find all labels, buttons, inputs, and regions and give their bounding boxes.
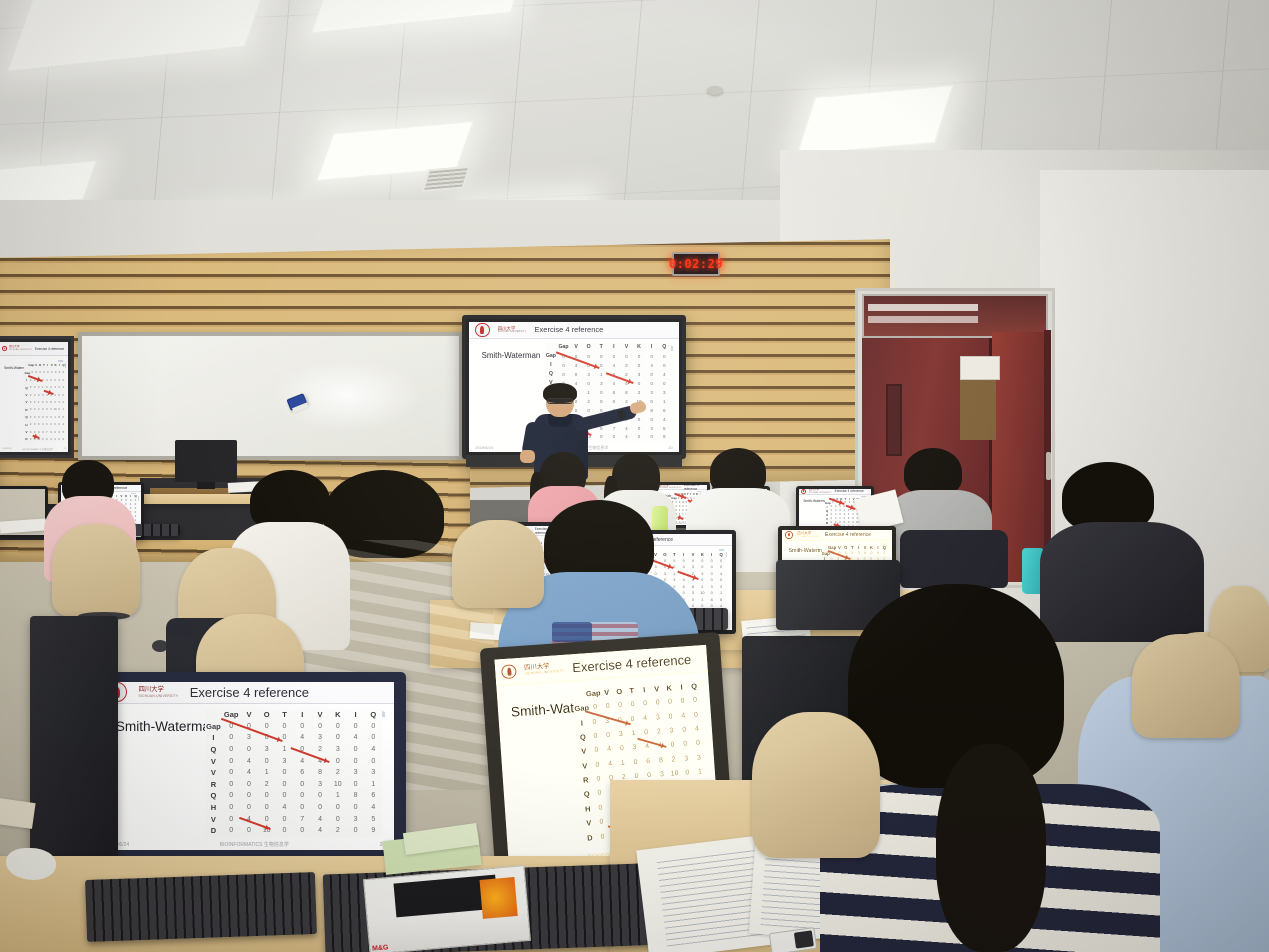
matrix-row: Q003102304 <box>24 386 65 390</box>
matrix-cell: 0 <box>592 775 605 783</box>
matrix-col-header: V <box>570 344 583 350</box>
matrix-row: V040074035 <box>24 430 65 434</box>
matrix-cell: 4 <box>61 386 65 389</box>
matrix-cell: 0 <box>626 701 639 709</box>
matrix-col-header: K <box>633 344 646 350</box>
matrix-cell: 1 <box>658 399 671 404</box>
door-vision-panel <box>886 384 902 456</box>
matrix-cell: 3 <box>692 754 705 762</box>
matrix-col-header: Q <box>364 710 382 719</box>
desktop-keyboard[interactable] <box>85 872 317 942</box>
corridor-light-patch <box>960 356 1000 380</box>
matrix-row-header: V <box>577 747 590 757</box>
monitor-back <box>30 616 118 868</box>
matrix-cell: 6 <box>642 757 655 765</box>
matrix-col-header: I <box>645 344 658 350</box>
slide-title: Exercise 4 reference <box>35 347 64 351</box>
matrix-col-header: V <box>600 687 613 697</box>
matrix-cell: 0 <box>679 741 692 749</box>
university-logo-icon <box>2 346 7 351</box>
matrix-row-header: H <box>205 803 223 812</box>
matrix-col-header: Q <box>881 545 887 550</box>
matrix-cell: 0 <box>615 745 628 753</box>
matrix-cell: 4 <box>639 715 652 723</box>
matrix-header-row: GapVOTIVKIQ <box>822 545 888 550</box>
matrix-cell: 0 <box>570 372 583 377</box>
matrix-cell: 0 <box>608 354 621 359</box>
matrix-cell: 0 <box>716 565 725 569</box>
matrix-cell: 0 <box>222 769 240 776</box>
matrix-cell: 4 <box>641 743 654 751</box>
matrix-cell: 4 <box>690 725 703 733</box>
matrix-cell: 1 <box>364 781 382 788</box>
matrix-cell: 0 <box>240 792 258 799</box>
matrix-col-header: V <box>311 710 329 719</box>
matrix-cell: 3 <box>633 372 646 377</box>
matrix-row: I030043040 <box>24 378 65 382</box>
matrix-cell: 0 <box>676 698 689 706</box>
matrix-cell: 0 <box>258 758 276 765</box>
matrix-cell: 0 <box>678 726 691 734</box>
matrix-cell: 4 <box>608 363 621 368</box>
matrix-cell: 0 <box>311 792 329 799</box>
matrix-cell: 0 <box>276 827 294 834</box>
matrix-cell: 0 <box>596 833 609 841</box>
matrix-cell: 10 <box>668 770 681 778</box>
matrix-cell: 1 <box>698 598 707 602</box>
slide-footer: 2019/6/24BIOINFORMATICS 生物信息学20 <box>2 447 66 451</box>
matrix-cell: 3 <box>665 727 678 735</box>
matrix-cell: 0 <box>329 804 347 811</box>
matrix-cell: 9 <box>61 438 65 441</box>
matrix-col-header: K <box>698 552 707 557</box>
matrix-col-header: T <box>595 344 608 350</box>
student-chair <box>752 712 880 858</box>
matrix-cell: 0 <box>240 746 258 753</box>
matrix-cell: 0 <box>614 702 627 710</box>
matrix-col-header: V <box>240 710 258 719</box>
matrix-cell: 0 <box>664 713 677 721</box>
slide-title: Exercise 4 reference <box>835 489 864 493</box>
matrix-cell: 4 <box>293 758 311 765</box>
matrix-cell: 2 <box>652 728 665 736</box>
matrix-header-row: GapVOTIVKIQ <box>205 710 383 719</box>
matrix-cell: 0 <box>293 781 311 788</box>
matrix-row-header: I <box>545 362 558 368</box>
whiteboard-glare <box>271 358 421 432</box>
matrix-col-header: I <box>347 710 365 719</box>
matrix-row-header: R <box>579 775 592 785</box>
matrix-cell: 4 <box>658 372 671 377</box>
university-name-en: SICHUAN UNIVERSITY <box>138 694 178 698</box>
matrix-cell: 4 <box>603 746 616 754</box>
slide-footer-date: 2019/6/24 <box>475 445 493 450</box>
matrix-cell: 0 <box>639 700 652 708</box>
monitor-screen: 四川大学SICHUAN UNIVERSITYExercise 4 referen… <box>98 682 394 850</box>
matrix-row-header: Gap <box>205 722 223 731</box>
corridor-board <box>960 380 996 440</box>
university-logo-icon <box>785 531 792 538</box>
matrix-cell: 0 <box>595 354 608 359</box>
slide-title: Exercise 4 reference <box>190 685 309 700</box>
matrix-cell: 0 <box>276 769 294 776</box>
matrix-col-header: Gap <box>557 344 570 350</box>
matrix-cell: 4 <box>364 746 382 753</box>
matrix-cell: 3 <box>595 381 608 386</box>
matrix-cell: 0 <box>240 804 258 811</box>
matrix-cell: 3 <box>658 390 671 395</box>
matrix-cell: 0 <box>222 746 240 753</box>
matrix-row: Q000000186 <box>24 415 65 419</box>
matrix-cell: 3 <box>276 758 294 765</box>
university-name-en: SICHUAN UNIVERSITY <box>797 536 821 538</box>
matrix-cell: 3 <box>655 771 668 779</box>
matrix-cell: 0 <box>557 372 570 377</box>
matrix-cell: 3 <box>645 390 658 395</box>
matrix-cell: 3 <box>614 731 627 739</box>
matrix-row: R0020031001 <box>24 408 65 412</box>
matrix-row-header: V <box>578 761 591 771</box>
student-ponytail <box>936 744 1046 952</box>
matrix-col-header: O <box>582 344 595 350</box>
matrix-cell: 0 <box>276 816 294 823</box>
matrix-cell: 0 <box>594 804 607 812</box>
countdown-timer-display: 0:02:29 <box>672 252 720 276</box>
matrix-col-header: I <box>608 344 621 350</box>
matrix-cell: 0 <box>633 354 646 359</box>
black-jacket <box>900 530 1008 588</box>
matrix-row: V040344000 <box>24 393 65 397</box>
university-logo-icon <box>475 323 489 337</box>
slide-title: Exercise 4 reference <box>572 651 692 674</box>
matrix-cell: 0 <box>689 697 702 705</box>
matrix-row-header: D <box>583 833 596 843</box>
matrix-cell: 3 <box>645 426 658 431</box>
matrix-cell: 2 <box>311 746 329 753</box>
matrix-cell: 0 <box>258 723 276 730</box>
matrix-row-header: I <box>205 733 223 742</box>
matrix-cell: 3 <box>620 363 633 368</box>
matrix-cell: 0 <box>364 758 382 765</box>
matrix-row-header: R <box>205 780 223 789</box>
matrix-cell: 10 <box>329 781 347 788</box>
matrix-cell: 0 <box>347 827 365 834</box>
slide-footer: 2019/6/24BIOINFORMATICS 生物信息学20 <box>107 841 385 848</box>
matrix-cell: 0 <box>364 734 382 741</box>
slide-footer-date: 2019/6/24 <box>2 448 12 450</box>
slide-title: Exercise 4 reference <box>535 325 604 334</box>
matrix-cell: 0 <box>311 723 329 730</box>
university-name-en: SICHUAN UNIVERSITY <box>498 331 527 333</box>
matrix-cell: 0 <box>240 827 258 834</box>
matrix-cell: 0 <box>293 792 311 799</box>
matrix-col-header: I <box>638 685 651 695</box>
matrix-cell: 0 <box>222 734 240 741</box>
matrix-cell: 0 <box>707 559 716 563</box>
matrix-cell: 0 <box>347 746 365 753</box>
teacher-pointing-arm <box>572 405 637 433</box>
matrix-cell: 0 <box>658 363 671 368</box>
matrix-cell: 1 <box>693 768 706 776</box>
slide-header: 四川大学SICHUAN UNIVERSITYExercise 4 referen… <box>799 489 871 495</box>
matrix-row-header: Q <box>580 790 593 800</box>
student-hair <box>904 448 962 496</box>
matrix-cell: 4 <box>311 816 329 823</box>
matrix-col-header: Q <box>716 552 725 557</box>
smoke-detector-icon <box>707 86 723 95</box>
slide-heading: Smith-Waterman <box>482 351 541 360</box>
matrix-cell: 0 <box>329 734 347 741</box>
matrix-cell: 0 <box>276 781 294 788</box>
matrix-cell: 0 <box>557 363 570 368</box>
matrix-cell: 0 <box>681 769 694 777</box>
matrix-row-header: Q <box>205 791 223 800</box>
student-chair <box>452 520 544 608</box>
matrix-col-header: K <box>663 683 676 693</box>
score-matrix: GapVOTIVKIQGap000000000I030043040Q003102… <box>24 362 65 443</box>
matrix-col-header: Q <box>688 681 701 691</box>
matrix-cell: 0 <box>276 723 294 730</box>
university-logo-icon <box>501 664 516 679</box>
matrix-row-header: V <box>205 768 223 777</box>
matrix-cell: 4 <box>276 804 294 811</box>
matrix-cell: 3 <box>628 744 641 752</box>
matrix-cell: 0 <box>640 729 653 737</box>
matrix-row: V040344000 <box>205 757 383 766</box>
matrix-cell: 2 <box>698 585 707 589</box>
matrix-col-header: O <box>258 710 276 719</box>
matrix-cell: 0 <box>689 711 702 719</box>
matrix-cell: 0 <box>620 354 633 359</box>
university-name-en: SICHUAN UNIVERSITY <box>809 492 832 494</box>
matrix-cell: 4 <box>677 712 690 720</box>
matrix-row: V041068233 <box>24 400 65 404</box>
matrix-cell: 3 <box>707 585 716 589</box>
matrix-cell: 0 <box>329 816 347 823</box>
presentation-slide: 四川大学SICHUAN UNIVERSITYExercise 4 referen… <box>98 682 394 850</box>
matrix-cell: 0 <box>588 718 601 726</box>
matrix-cell: 0 <box>293 827 311 834</box>
matrix-cell: 0 <box>698 565 707 569</box>
traceback-arrow <box>32 435 40 439</box>
matrix-row-header: Q <box>545 371 558 377</box>
matrix-cell: 0 <box>691 740 704 748</box>
matrix-cell: 0 <box>222 804 240 811</box>
matrix-cell: 0 <box>276 792 294 799</box>
pen-box-orange-graphic <box>480 877 518 918</box>
matrix-cell: 6 <box>658 408 671 413</box>
matrix-cell: 0 <box>364 723 382 730</box>
matrix-col-header: Gap <box>828 545 836 550</box>
matrix-cell: 4 <box>707 565 716 569</box>
matrix-header-row: GapVOTIVKIQ <box>545 344 671 350</box>
matrix-cell: 2 <box>329 827 347 834</box>
handout-paper[interactable] <box>0 797 36 829</box>
matrix-row-header: D <box>205 826 223 835</box>
slide-page-number: 20 <box>64 448 66 450</box>
matrix-cell: 3 <box>61 401 65 404</box>
matrix-row: R0020031001 <box>205 780 383 789</box>
matrix-cell: 7 <box>293 816 311 823</box>
matrix-cell: 0 <box>591 761 604 769</box>
whiteboard <box>78 332 463 460</box>
matrix-row: V041068233 <box>205 768 383 777</box>
matrix-cell: 4 <box>364 804 382 811</box>
matrix-row-header: Gap <box>545 353 558 359</box>
matrix-cell: 0 <box>61 371 65 374</box>
matrix-cell: 3 <box>680 755 693 763</box>
matrix-cell: 0 <box>590 747 603 755</box>
matrix-cell: 9 <box>658 434 671 439</box>
matrix-cell: 3 <box>347 769 365 776</box>
matrix-cell: 10 <box>698 591 707 595</box>
matrix-cell: 4 <box>645 363 658 368</box>
matrix-cell: 0 <box>645 434 658 439</box>
student-chair <box>1132 634 1240 738</box>
matrix-row: H000400004 <box>24 423 65 427</box>
matrix-cell: 6 <box>61 416 65 419</box>
matrix-cell: 0 <box>601 703 614 711</box>
matrix-col-header: I <box>675 682 688 692</box>
matrix-cell: 0 <box>645 399 658 404</box>
matrix-cell: 5 <box>61 431 65 434</box>
matrix-cell: 5 <box>658 426 671 431</box>
matrix-cell: 3 <box>651 714 664 722</box>
matrix-cell: 0 <box>645 417 658 422</box>
presentation-slide: 四川大学SICHUAN UNIVERSITYExercise 4 referen… <box>0 342 68 452</box>
matrix-cell: 0 <box>716 559 725 563</box>
student-chair <box>52 524 140 616</box>
slide-heading: Smith-Waterman <box>116 719 218 734</box>
matrix-cell: 3 <box>311 781 329 788</box>
matrix-cell: 0 <box>658 354 671 359</box>
matrix-cell: 0 <box>582 381 595 386</box>
countdown-timer-value: 0:02:29 <box>669 257 723 271</box>
matrix-row-header: V <box>582 818 595 828</box>
slide-header: 四川大学SICHUAN UNIVERSITYExercise 4 referen… <box>98 682 394 704</box>
matrix-cell: 2 <box>667 756 680 764</box>
matrix-col-header: T <box>625 686 638 696</box>
matrix-col-header: I <box>707 552 716 557</box>
matrix-cell: 1 <box>61 408 65 411</box>
matrix-cell: 0 <box>707 591 716 595</box>
matrix-cell: 0 <box>222 792 240 799</box>
matrix-cell: 3 <box>364 769 382 776</box>
matrix-cell: 8 <box>645 408 658 413</box>
matrix-cell: 0 <box>645 354 658 359</box>
matrix-cell: 3 <box>240 734 258 741</box>
matrix-cell: 0 <box>293 723 311 730</box>
matrix-cell: 0 <box>240 781 258 788</box>
matrix-cell: 0 <box>602 732 615 740</box>
matrix-row-header: Q <box>576 732 589 742</box>
matrix-row: Q000000186 <box>205 791 383 800</box>
matrix-col-header: O <box>613 687 626 697</box>
matrix-cell: 0 <box>707 572 716 576</box>
matrix-cell: 0 <box>293 804 311 811</box>
matrix-cell: 4 <box>311 827 329 834</box>
matrix-cell: 3 <box>311 734 329 741</box>
classroom-photo: 0:02:29 四川大学SICHUAN UNIVERSITYExercise 4… <box>0 0 1269 952</box>
matrix-cell: 2 <box>620 372 633 377</box>
matrix-row: I030043040 <box>545 362 671 368</box>
matrix-row: H000400004 <box>205 803 383 812</box>
matrix-cell: 0 <box>658 381 671 386</box>
matrix-cell: 0 <box>347 781 365 788</box>
ceiling-air-vent <box>421 166 470 192</box>
matrix-cell: 6 <box>364 792 382 799</box>
score-matrix: GapVOTIVKIQGap000000000I030043040Q003102… <box>205 709 383 837</box>
student-hair <box>848 584 1064 788</box>
matrix-cell: 0 <box>589 704 602 712</box>
matrix-cell: 3 <box>347 816 365 823</box>
matrix-cell: 6 <box>293 769 311 776</box>
matrix-row-header: I <box>575 718 588 728</box>
matrix-row: V040074035 <box>205 815 383 824</box>
matrix-cell: 4 <box>658 417 671 422</box>
matrix-cell: 0 <box>222 758 240 765</box>
matrix-cell: 0 <box>698 559 707 563</box>
matrix-cell: 0 <box>651 699 664 707</box>
matrix-cell: 0 <box>881 551 887 555</box>
slide-header: 四川大学SICHUAN UNIVERSITYExercise 4 referen… <box>469 322 679 339</box>
tshirt-flag-stars <box>552 622 592 642</box>
matrix-cell: 0 <box>633 363 646 368</box>
matrix-cell: 9 <box>364 827 382 834</box>
left-secondary-display: 四川大学SICHUAN UNIVERSITYExercise 4 referen… <box>0 336 74 458</box>
matrix-cell: 8 <box>347 792 365 799</box>
slide-header: 四川大学SICHUAN UNIVERSITYExercise 4 referen… <box>0 342 68 356</box>
matrix-row: I030043040 <box>205 733 383 742</box>
matrix-cell: 0 <box>222 816 240 823</box>
university-logo-icon <box>801 489 806 494</box>
matrix-cell: 4 <box>240 769 258 776</box>
slide-footer-course: BIOINFORMATICS 生物信息学 <box>23 447 53 451</box>
matrix-row-header: Q <box>205 745 223 754</box>
matrix-cell: 0 <box>716 578 725 582</box>
slide-page-number: 20 <box>668 445 672 450</box>
pen-box[interactable]: M&G <box>363 865 531 952</box>
matrix-cell: 3 <box>716 585 725 589</box>
matrix-cell: 3 <box>329 746 347 753</box>
matrix-cell: 0 <box>347 723 365 730</box>
matrix-cell: 8 <box>654 757 667 765</box>
matrix-cell: 0 <box>595 818 608 826</box>
matrix-cell: 2 <box>258 781 276 788</box>
matrix-cell: 0 <box>311 804 329 811</box>
matrix-cell: 3 <box>582 372 595 377</box>
matrix-cell: 1 <box>616 759 629 767</box>
matrix-row: Gap000000000 <box>24 371 65 375</box>
matrix-cell: 0 <box>582 354 595 359</box>
matrix-cell: 4 <box>347 734 365 741</box>
matrix-cell: 0 <box>707 578 716 582</box>
university-name-en: SICHUAN UNIVERSITY <box>9 349 32 351</box>
matrix-cell: 0 <box>666 741 679 749</box>
matrix-cell: 4 <box>716 572 725 576</box>
matrix-col-header: K <box>329 710 347 719</box>
matrix-cell: 4 <box>240 758 258 765</box>
matrix-cell: 8 <box>311 769 329 776</box>
slide-title: Exercise 4 reference <box>825 532 871 538</box>
matrix-cell: 0 <box>222 781 240 788</box>
matrix-cell: 4 <box>61 423 65 426</box>
matrix-col-header: Q <box>61 363 65 367</box>
matrix-cell: 0 <box>347 804 365 811</box>
slide-header: 四川大学SICHUAN UNIVERSITYExercise 4 referen… <box>782 530 892 541</box>
matrix-row: D0010004209 <box>24 437 65 441</box>
matrix-cell: 3 <box>258 746 276 753</box>
